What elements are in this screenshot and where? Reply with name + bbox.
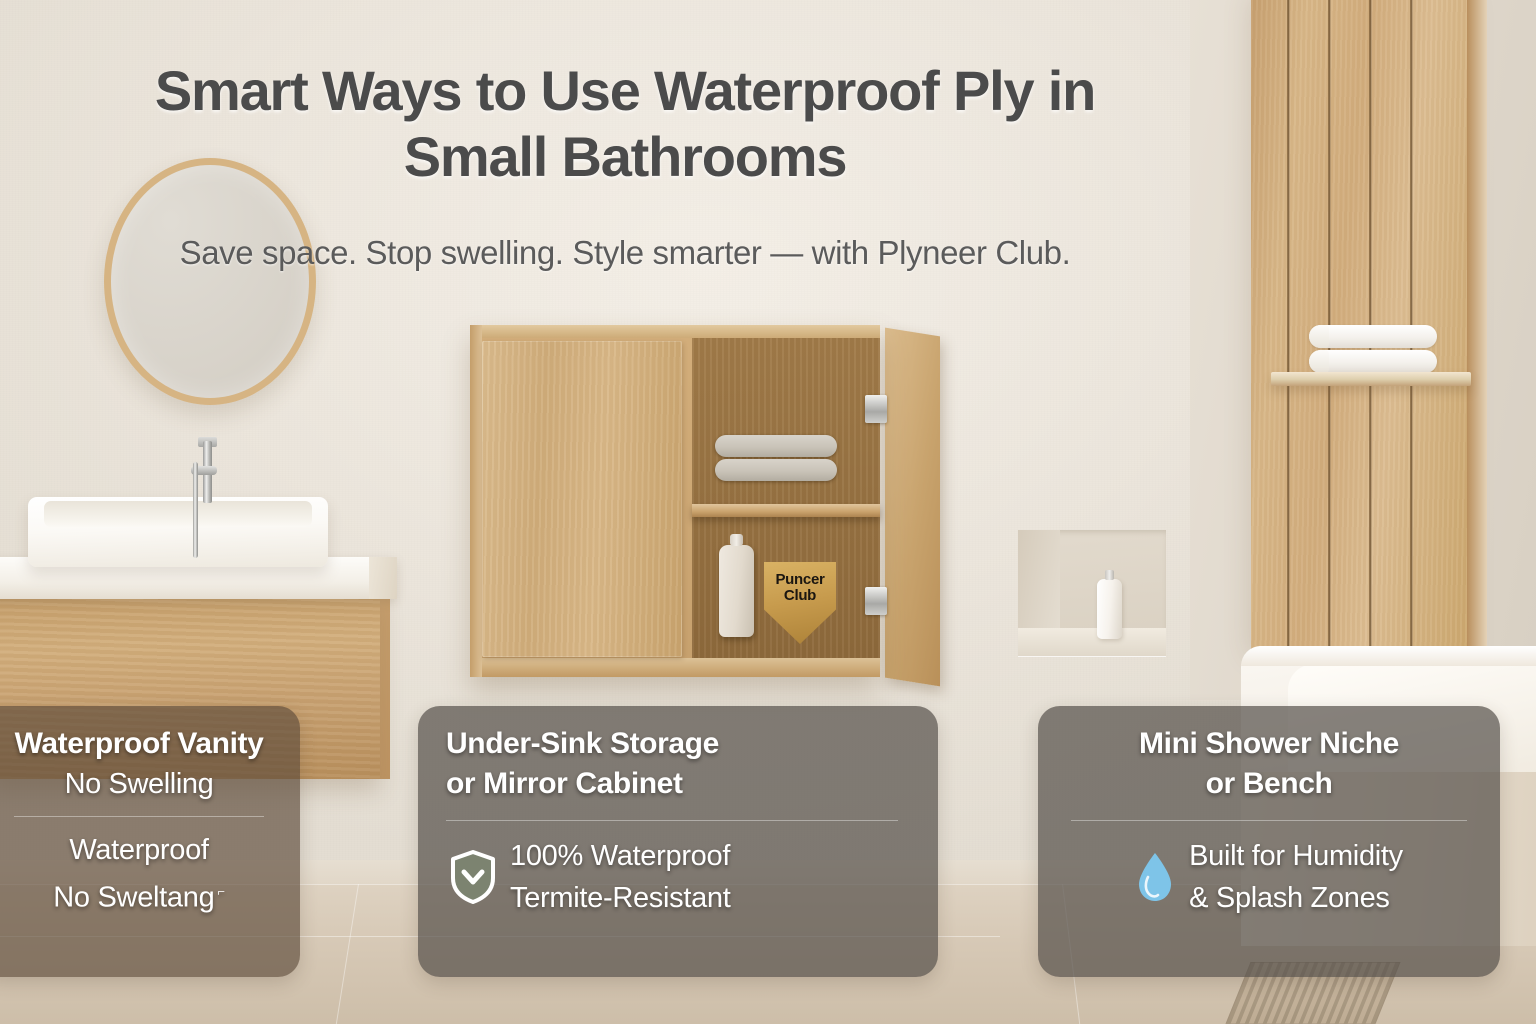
card1-sub: Waterproof No Sweltang⌐ bbox=[53, 829, 224, 919]
cabinet-shelf bbox=[692, 504, 880, 517]
slat-panel-right-edge bbox=[1467, 0, 1487, 656]
niche-shelf bbox=[1018, 628, 1166, 656]
shelf-towels bbox=[1309, 325, 1437, 375]
towel-roll-top bbox=[1309, 325, 1437, 348]
page-title: Smart Ways to Use Waterproof Ply in Smal… bbox=[0, 58, 1250, 190]
water-drop-icon bbox=[1135, 850, 1175, 904]
wall-cabinet bbox=[470, 325, 940, 685]
card2-sub-line-1: 100% Waterproof bbox=[510, 840, 730, 872]
cabinet-hinge-bottom bbox=[865, 587, 887, 615]
card2-sub-line-2: Termite-Resistant bbox=[510, 882, 731, 914]
cabinet-closed-door[interactable] bbox=[482, 341, 682, 657]
card1-title: Waterproof Vanity No Swelling bbox=[15, 724, 264, 804]
card3-title-line-1: Mini Shower Niche bbox=[1139, 727, 1399, 760]
card1-sub-line-2: No Sweltang bbox=[53, 882, 214, 914]
headline-line-1: Smart Ways to Use Waterproof Ply in bbox=[155, 59, 1095, 122]
card3-sub-line-1: Built for Humidity bbox=[1189, 840, 1403, 872]
card3-sub: Built for Humidity & Splash Zones bbox=[1189, 835, 1403, 919]
brand-badge-line-2: Club bbox=[784, 588, 816, 604]
slat-groove-1 bbox=[1287, 0, 1290, 656]
card2-title: Under-Sink Storage or Mirror Cabinet bbox=[446, 724, 719, 804]
bathtub-rim bbox=[1241, 646, 1536, 666]
cabinet-towel-bottom bbox=[715, 459, 837, 481]
card2-title-line-1: Under-Sink Storage bbox=[446, 727, 719, 760]
card3-detail: Built for Humidity & Splash Zones bbox=[1131, 835, 1407, 919]
card3-sub-line-2: & Splash Zones bbox=[1189, 882, 1390, 914]
info-card-mini-shower-niche[interactable]: Mini Shower Niche or Bench Built for Hum… bbox=[1038, 706, 1500, 977]
page-subtitle: Save space. Stop swelling. Style smarter… bbox=[0, 232, 1250, 274]
card3-title: Mini Shower Niche or Bench bbox=[1139, 724, 1399, 804]
niche-bottle bbox=[1097, 579, 1122, 639]
info-card-under-sink-storage[interactable]: Under-Sink Storage or Mirror Cabinet 100… bbox=[418, 706, 938, 977]
card3-divider bbox=[1071, 820, 1467, 821]
info-card-waterproof-vanity[interactable]: Waterproof Vanity No Swelling Waterproof… bbox=[0, 706, 300, 977]
cabinet-towels bbox=[715, 435, 837, 483]
cabinet-towel-top bbox=[715, 435, 837, 457]
card2-detail: 100% Waterproof Termite-Resistant bbox=[446, 835, 735, 919]
trademark-glyph: ⌐ bbox=[217, 884, 224, 899]
cabinet-left-panel bbox=[470, 325, 482, 677]
cabinet-hinge-top bbox=[865, 395, 887, 423]
headline-line-2: Small Bathrooms bbox=[0, 124, 1250, 190]
card1-title-line-1: Waterproof Vanity bbox=[15, 727, 264, 760]
cabinet-door-grain bbox=[482, 341, 682, 657]
scene-root: Puncer Club Smart Ways to Use Waterproof… bbox=[0, 0, 1536, 1024]
wall-shelf bbox=[1271, 372, 1471, 386]
card3-title-line-2: or Bench bbox=[1206, 767, 1333, 800]
card2-title-line-2: or Mirror Cabinet bbox=[446, 767, 683, 800]
towel-roll-bottom bbox=[1309, 350, 1437, 373]
shield-check-icon bbox=[450, 850, 496, 904]
brand-badge-line-1: Puncer bbox=[775, 572, 824, 588]
cabinet-top-panel bbox=[470, 325, 880, 338]
card2-divider bbox=[446, 820, 898, 821]
card1-detail: Waterproof No Sweltang⌐ bbox=[49, 829, 228, 919]
cabinet-bottle bbox=[719, 545, 754, 637]
round-mirror bbox=[104, 158, 316, 405]
card2-sub: 100% Waterproof Termite-Resistant bbox=[510, 835, 731, 919]
card1-sub-line-1: Waterproof bbox=[69, 834, 208, 866]
card1-divider bbox=[14, 816, 263, 817]
sink-basin-well bbox=[44, 501, 312, 527]
cabinet-bottom-panel bbox=[470, 658, 880, 677]
card1-title-line-2: No Swelling bbox=[65, 768, 214, 800]
cabinet-door-handle[interactable] bbox=[193, 462, 198, 558]
